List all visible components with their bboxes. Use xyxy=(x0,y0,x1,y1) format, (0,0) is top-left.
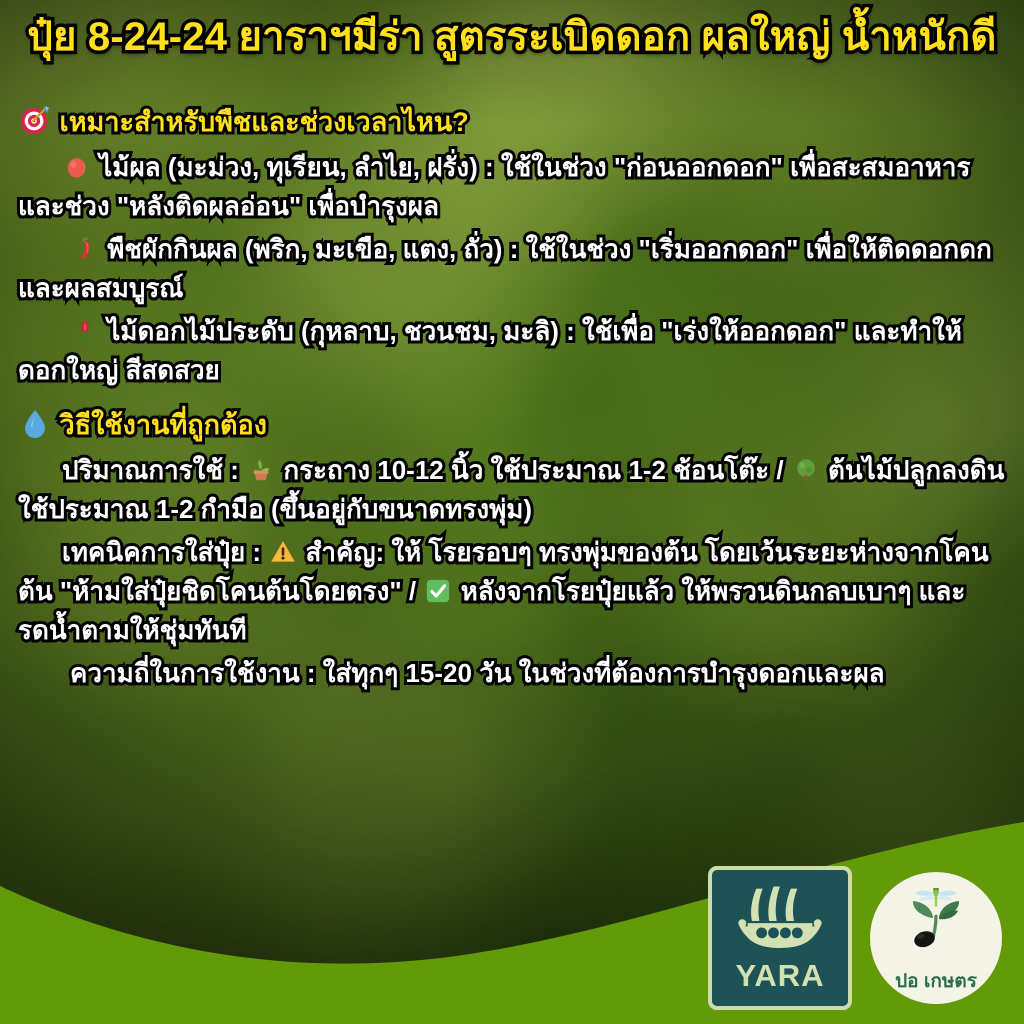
tree-icon xyxy=(793,457,819,483)
section-2-line-1-label: ปริมาณการใช้ : xyxy=(62,455,239,485)
section-1-line-3-text: ไม้ดอกไม้ประดับ (กุหลาบ, ชวนชม, มะลิ) : … xyxy=(18,316,962,385)
section-1-line-1-text: ไม้ผล (มะม่วง, ทุเรียน, ลำไย, ฝรั่ง) : ใ… xyxy=(18,152,970,221)
section-2-line-1: ปริมาณการใช้ : กระถาง 10-12 นิ้ว ใช้ประม… xyxy=(18,451,1010,529)
logo-row: YARA xyxy=(708,866,1002,1010)
water-droplet-icon xyxy=(20,408,50,438)
dart-target-icon xyxy=(20,105,50,135)
partner-logo: ปอ เกษตร xyxy=(870,872,1002,1004)
section-heading-1-text: เหมาะสำหรับพืชและช่วงเวลาไหน? xyxy=(60,107,469,137)
yara-wordmark: YARA xyxy=(736,958,825,994)
rose-flower-icon xyxy=(72,318,98,344)
section-2-line-2: เทคนิคการใส่ปุ๋ย : สำคัญ: ให้ โรยรอบๆ ทร… xyxy=(18,533,1010,650)
poster-content: ปุ๋ย 8-24-24 ยาราฯมีร่า สูตรระเบิดดอก ผล… xyxy=(0,0,1024,1024)
body-text-block: เหมาะสำหรับพืชและช่วงเวลาไหน? ไม้ผล (มะม… xyxy=(18,103,1010,697)
chili-pepper-icon xyxy=(72,236,98,262)
page-title: ปุ๋ย 8-24-24 ยาราฯมีร่า สูตรระเบิดดอก ผล… xyxy=(0,14,1024,60)
infographic-poster: ปุ๋ย 8-24-24 ยาราฯมีร่า สูตรระเบิดดอก ผล… xyxy=(0,0,1024,1024)
section-heading-1: เหมาะสำหรับพืชและช่วงเวลาไหน? xyxy=(18,103,1010,142)
green-check-icon xyxy=(425,578,451,604)
section-2-line-3: ความถี่ในการใช้งาน : ใส่ทุกๆ 15-20 วัน ใ… xyxy=(18,654,1010,693)
section-2-line-3-label: ความถี่ในการใช้งาน : xyxy=(70,658,316,688)
section-2-line-1-text-a: กระถาง 10-12 นิ้ว ใช้ประมาณ 1-2 ช้อนโต๊ะ… xyxy=(283,455,783,485)
yara-logo: YARA xyxy=(708,866,852,1010)
section-heading-2: วิธีใช้งานที่ถูกต้อง xyxy=(18,406,1010,445)
mango-fruit-icon xyxy=(64,154,90,180)
partner-wordmark: ปอ เกษตร xyxy=(895,966,977,996)
section-1-line-3: ไม้ดอกไม้ประดับ (กุหลาบ, ชวนชม, มะลิ) : … xyxy=(18,312,1010,390)
section-1-line-2-text: พืชผักกินผล (พริก, มะเขือ, แตง, ถั่ว) : … xyxy=(18,234,992,303)
potted-plant-icon xyxy=(248,457,274,483)
section-2-line-2-label: เทคนิคการใส่ปุ๋ย : xyxy=(62,537,261,567)
section-2-line-3-text: ใส่ทุกๆ 15-20 วัน ในช่วงที่ต้องการบำรุงด… xyxy=(323,658,885,688)
section-1-line-1: ไม้ผล (มะม่วง, ทุเรียน, ลำไย, ฝรั่ง) : ใ… xyxy=(18,148,1010,226)
section-heading-2-text: วิธีใช้งานที่ถูกต้อง xyxy=(60,410,267,440)
sprout-dragonfly-icon xyxy=(888,880,984,964)
warning-triangle-icon xyxy=(270,539,296,565)
yara-viking-ship-icon xyxy=(726,882,834,960)
section-1-line-2: พืชผักกินผล (พริก, มะเขือ, แตง, ถั่ว) : … xyxy=(18,230,1010,308)
